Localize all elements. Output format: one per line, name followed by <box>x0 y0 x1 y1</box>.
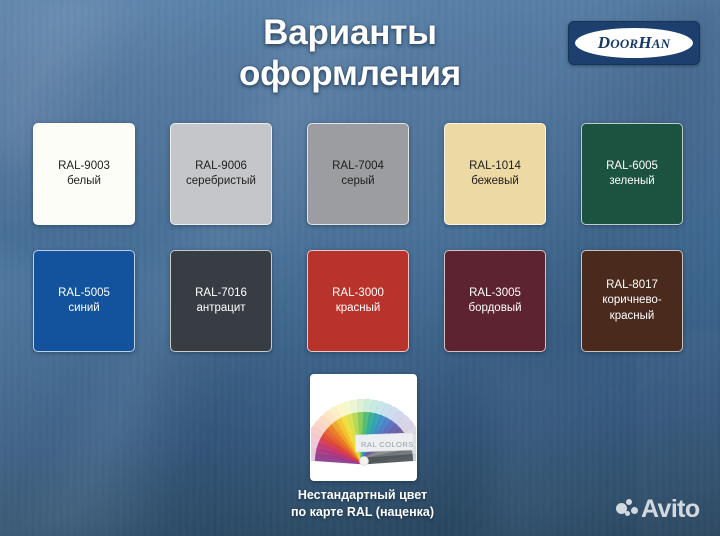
doorhan-logo: DOORHAN <box>568 21 700 65</box>
custom-color-caption-line-1: Нестандартный цвет <box>245 487 480 504</box>
color-swatch-ral-6005[interactable]: RAL-6005зеленый <box>581 123 683 225</box>
swatch-code: RAL-3000 <box>332 286 384 301</box>
ral-fan-label: RAL COLORS <box>361 440 414 449</box>
custom-color-caption-line-2: по карте RAL (наценка) <box>245 504 480 521</box>
swatch-code: RAL-5005 <box>58 286 110 301</box>
color-swatch-ral-7016[interactable]: RAL-7016антрацит <box>170 250 272 352</box>
page-title: Варианты оформления <box>140 13 560 94</box>
avito-watermark: Avito <box>616 497 700 522</box>
swatch-code: RAL-7016 <box>195 286 247 301</box>
promo-banner: Варианты оформления DOORHAN RAL-9003белы… <box>0 0 720 536</box>
color-swatch-ral-3000[interactable]: RAL-3000красный <box>307 250 409 352</box>
logo-d: D <box>598 33 610 52</box>
avito-wordmark: Avito <box>641 497 700 522</box>
swatch-name: синий <box>68 301 99 316</box>
ral-color-fan-card[interactable]: RAL COLORS <box>310 374 417 481</box>
swatch-name: бежевый <box>471 174 519 189</box>
swatch-name: серый <box>341 174 374 189</box>
logo-text: DOORHAN <box>598 33 670 53</box>
logo-oor: OOR <box>610 36 638 51</box>
swatch-name: антрацит <box>196 301 245 316</box>
custom-color-caption: Нестандартный цвет по карте RAL (наценка… <box>245 487 480 520</box>
logo-h: H <box>638 33 651 52</box>
swatch-code: RAL-3005 <box>469 286 521 301</box>
swatch-code: RAL-6005 <box>606 159 658 174</box>
logo-ellipse: DOORHAN <box>575 28 693 58</box>
swatch-code: RAL-9006 <box>195 159 247 174</box>
swatch-name: белый <box>67 174 101 189</box>
swatch-code: RAL-8017 <box>606 278 658 293</box>
swatch-name: бордовый <box>468 301 521 316</box>
page-title-line-2: оформления <box>140 54 560 95</box>
color-swatch-ral-3005[interactable]: RAL-3005бордовый <box>444 250 546 352</box>
swatch-name: серебристый <box>186 174 256 189</box>
avito-dots-icon <box>616 499 638 521</box>
page-title-line-1: Варианты <box>140 13 560 54</box>
swatch-code: RAL-7004 <box>332 159 384 174</box>
swatch-code: RAL-9003 <box>58 159 110 174</box>
swatch-name: коричнево- красный <box>602 293 661 323</box>
header: Варианты оформления DOORHAN <box>0 0 720 110</box>
color-swatch-ral-5005[interactable]: RAL-5005синий <box>33 250 135 352</box>
logo-an: AN <box>652 36 670 51</box>
color-swatch-ral-1014[interactable]: RAL-1014бежевый <box>444 123 546 225</box>
color-swatch-ral-7004[interactable]: RAL-7004серый <box>307 123 409 225</box>
color-swatch-ral-9006[interactable]: RAL-9006серебристый <box>170 123 272 225</box>
swatch-name: зеленый <box>609 174 654 189</box>
swatch-code: RAL-1014 <box>469 159 521 174</box>
color-swatch-ral-9003[interactable]: RAL-9003белый <box>33 123 135 225</box>
color-swatch-ral-8017[interactable]: RAL-8017коричнево- красный <box>581 250 683 352</box>
swatch-name: красный <box>336 301 381 316</box>
ral-fan-icon: RAL COLORS <box>311 375 416 480</box>
